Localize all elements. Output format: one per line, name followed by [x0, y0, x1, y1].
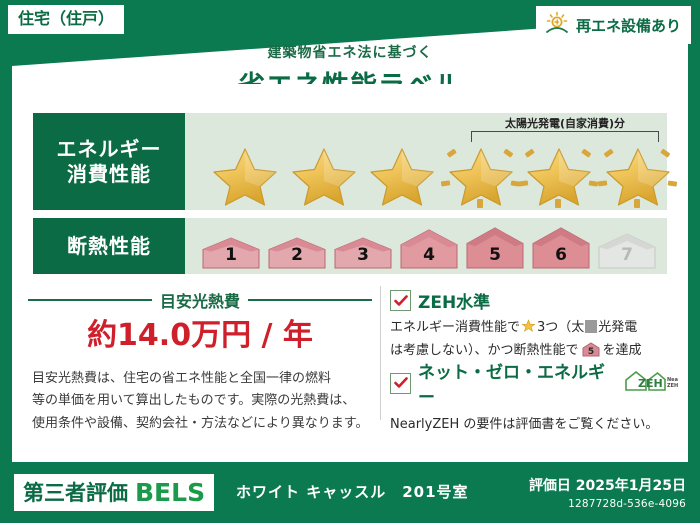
insulation-performance-label: 断熱性能: [33, 218, 185, 274]
svg-text:5: 5: [587, 347, 593, 357]
evaluation-info: 評価日 2025年1月25日 1287728d-536e-4096: [529, 475, 686, 510]
utility-cost-heading-text: 目安光熱費: [160, 288, 240, 312]
third-party-label: 第三者評価: [23, 477, 128, 507]
insulation-level-active: 6: [529, 226, 593, 270]
insulation-level-number: 2: [265, 245, 329, 265]
star-solar: [592, 139, 668, 205]
insulation-level-inactive: 7: [595, 232, 659, 270]
heading-rule-left: [28, 299, 152, 301]
star-filled: [199, 139, 275, 205]
solar-sun-icon: [544, 11, 570, 39]
zeh-desc-line2a: は考慮しない）、かつ断熱性能で: [390, 343, 579, 358]
zeh-level-heading: ZEH水準: [390, 288, 678, 313]
insulation-level-number: 4: [397, 245, 461, 265]
insulation-level-number: 6: [529, 245, 593, 265]
net-zero-heading: ネット・ゼロ・エネルギー ZEH Nearly ZEH: [390, 358, 678, 408]
insulation-level-number: 1: [199, 245, 263, 265]
zeh-level-block: ZEH水準 エネルギー消費性能で3つ（太光発電 は考慮しない）、かつ断熱性能で5…: [390, 288, 678, 361]
zeh-desc-part1: エネルギー消費性能で: [390, 320, 520, 335]
energy-label-line1: エネルギー: [57, 137, 162, 162]
net-zero-note: NearlyZEH の要件は評価書をご覧ください。: [390, 413, 678, 432]
evaluation-id: 1287728d-536e-4096: [529, 498, 686, 510]
utility-cost-heading: 目安光熱費: [28, 288, 372, 312]
note-line-1: 目安光熱費は、住宅の省エネ性能と全国一律の燃料: [32, 368, 372, 390]
note-line-3: 使用条件や設備、契約会社・方法などにより異なります。: [32, 413, 372, 435]
bels-chip: 第三者評価 BELS: [14, 474, 214, 511]
solar-bracket-label: 太陽光発電(自家消費)分: [471, 115, 659, 131]
bels-logo-text: BELS: [135, 478, 205, 507]
insulation-level-active: 3: [331, 236, 395, 270]
note-line-2: 等の単価を用いて算出したものです。実際の光熱費は、: [32, 390, 372, 412]
energy-performance-label: エネルギー 消費性能: [33, 113, 185, 210]
insulation-level-active: 1: [199, 236, 263, 270]
label-footer: 第三者評価 BELS ホワイト キャッスル 201号室 評価日 2025年1月2…: [0, 465, 700, 523]
check-icon: [390, 373, 411, 394]
insulation-rating-area: 1 2 3 4 5 6 7: [185, 218, 667, 274]
insulation-level-number: 7: [595, 245, 659, 265]
check-icon: [390, 290, 411, 311]
renewable-energy-badge: 再エネ設備あり: [536, 6, 691, 44]
insulation-level-badge: 5: [581, 342, 601, 357]
insulation-level-scale: 1 2 3 4 5 6 7: [199, 226, 659, 270]
insulation-performance-row: 断熱性能 1 2 3 4 5 6 7: [33, 218, 667, 274]
zeh-level-title: ZEH水準: [418, 288, 490, 313]
zeh-level-description: エネルギー消費性能で3つ（太光発電 は考慮しない）、かつ断熱性能で5を達成: [390, 317, 678, 361]
insulation-level-active: 4: [397, 228, 461, 270]
energy-label-line2: 消費性能: [67, 162, 151, 187]
star-solar: [435, 139, 511, 205]
insulation-level-active: 2: [265, 236, 329, 270]
zeh-desc-part2: 光発電: [598, 320, 637, 335]
utility-cost-note: 目安光熱費は、住宅の省エネ性能と全国一律の燃料 等の単価を用いて算出したものです…: [32, 368, 372, 435]
insulation-level-number: 3: [331, 245, 395, 265]
insulation-level-active: 5: [463, 226, 527, 270]
insulation-label-text: 断熱性能: [67, 234, 151, 259]
missing-glyph-box: [585, 320, 597, 333]
net-zero-block: ネット・ゼロ・エネルギー ZEH Nearly ZEH NearlyZEH の要…: [390, 358, 678, 432]
star-filled: [278, 139, 354, 205]
inline-star-icon: [521, 322, 536, 337]
building-name: ホワイト キャッスル 201号室: [236, 481, 469, 502]
net-zero-title: ネット・ゼロ・エネルギー: [418, 358, 615, 408]
zeh-desc-star-count: 3つ（太: [537, 320, 584, 335]
column-divider: [380, 286, 381, 420]
energy-label-root: 住宅（住戸） 再エネ設備あり 建築物省エネ法に基づく 省エネ性能ラベル: [0, 0, 700, 523]
evaluation-date: 評価日 2025年1月25日: [529, 475, 686, 495]
heading-rule-right: [248, 299, 372, 301]
zeh-house-logo-icon: ZEH Nearly ZEH: [622, 368, 678, 398]
category-chip: 住宅（住戸）: [8, 5, 124, 34]
title-subtitle: 建築物省エネ法に基づく: [0, 42, 700, 62]
star-rating: [185, 139, 667, 204]
utility-cost-value: 約14.0万円 / 年: [28, 310, 372, 354]
energy-rating-area: 太陽光発電(自家消費)分: [185, 113, 667, 210]
star-solar: [513, 139, 589, 205]
renewable-badge-label: 再エネ設備あり: [576, 15, 681, 36]
zeh-desc-line2b: を達成: [603, 343, 642, 358]
svg-text:ZEH: ZEH: [638, 377, 663, 390]
svg-text:ZEH: ZEH: [667, 383, 678, 389]
energy-performance-row: エネルギー 消費性能 太陽光発電(自家消費)分: [33, 113, 667, 210]
insulation-level-number: 5: [463, 245, 527, 265]
star-filled: [356, 139, 432, 205]
